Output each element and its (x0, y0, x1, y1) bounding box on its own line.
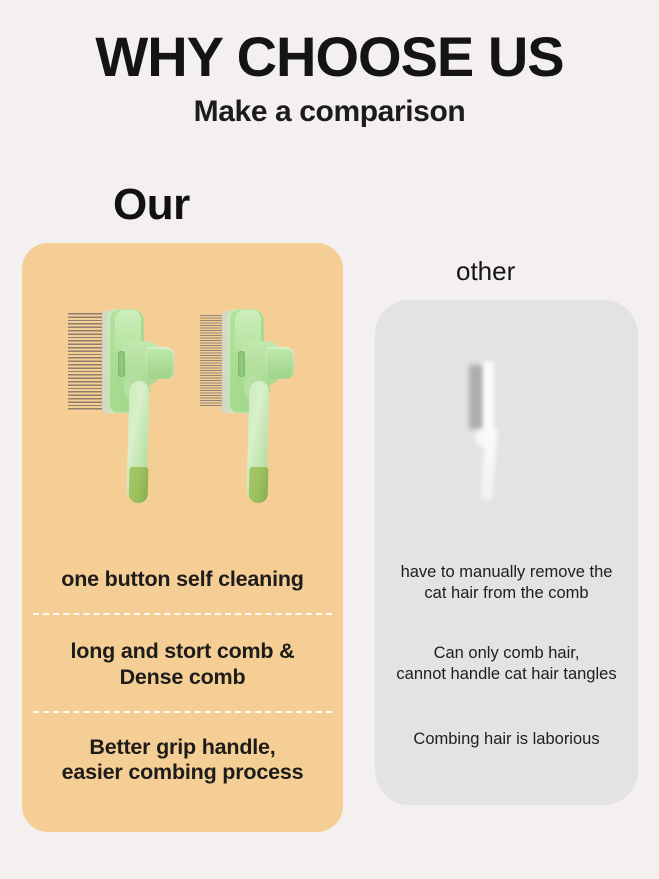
other-feature-list: have to manually remove the cat hair fro… (375, 562, 638, 749)
other-feature-item: Can only comb hair, cannot handle cat ha… (375, 643, 638, 684)
comb-teeth (469, 365, 483, 429)
comb-body (483, 361, 494, 437)
our-feature-line: one button self cleaning (32, 567, 333, 592)
other-feature-line: cat hair from the comb (379, 583, 634, 604)
other-feature-line: Combing hair is laborious (379, 729, 634, 750)
brush-handle-tip (249, 467, 269, 503)
other-column-label: other (456, 258, 515, 284)
other-feature-item: have to manually remove the cat hair fro… (375, 562, 638, 603)
feature-divider (33, 711, 332, 713)
product-brush-dense-pins-icon (180, 309, 300, 539)
brush-self-cleaning-button (266, 347, 294, 379)
our-column-label: Our (113, 183, 190, 227)
page-subtitle: Make a comparison (0, 95, 659, 129)
other-feature-line: cannot handle cat hair tangles (379, 664, 634, 685)
page-title: WHY CHOOSE US (0, 28, 659, 85)
comparison-infographic: WHY CHOOSE US Make a comparison Our othe… (0, 0, 659, 879)
product-brush-long-pins-icon (60, 309, 180, 539)
our-feature-line: easier combing process (32, 760, 333, 785)
our-feature-line: Dense comb (32, 665, 333, 690)
our-feature-line: Better grip handle, (32, 735, 333, 760)
brush-slot (238, 351, 245, 377)
our-card: one button self cleaning long and stort … (22, 243, 343, 832)
brush-self-cleaning-button (146, 347, 174, 379)
other-feature-item: Combing hair is laborious (375, 729, 638, 750)
other-feature-line: Can only comb hair, (379, 643, 634, 664)
brush-slot (118, 351, 125, 377)
brush-handle-tip (129, 467, 149, 503)
other-feature-line: have to manually remove the (379, 562, 634, 583)
our-feature-line: long and stort comb & (32, 639, 333, 664)
other-product-comb-icon (463, 355, 519, 505)
header: WHY CHOOSE US Make a comparison (0, 28, 659, 129)
other-card: have to manually remove the cat hair fro… (375, 300, 638, 805)
feature-divider (33, 613, 332, 615)
our-feature-item: Better grip handle, easier combing proce… (22, 735, 343, 786)
our-feature-item: long and stort comb & Dense comb (22, 639, 343, 690)
our-feature-list: one button self cleaning long and stort … (22, 565, 343, 786)
our-feature-item: one button self cleaning (22, 567, 343, 592)
